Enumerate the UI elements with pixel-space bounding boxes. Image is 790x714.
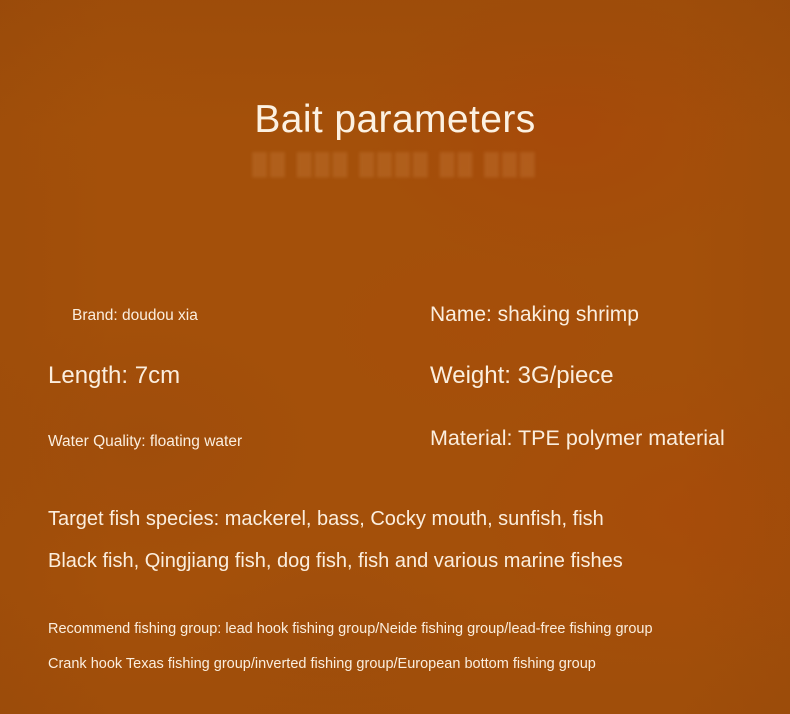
- title-ghost-text: ██ ███ ████ ██ ███: [0, 152, 790, 178]
- species-line: Target fish species: mackerel, bass, Coc…: [48, 498, 768, 540]
- recommend-line: Crank hook Texas fishing group/inverted …: [48, 647, 778, 682]
- parameter-row-brand-name: Brand: doudou xia Name: shaking shrimp: [0, 296, 790, 360]
- recommend-line: Recommend fishing group: lead hook fishi…: [48, 612, 778, 647]
- param-brand: Brand: doudou xia: [72, 306, 198, 326]
- recommended-rig-block: Recommend fishing group: lead hook fishi…: [48, 612, 778, 682]
- species-line: Black fish, Qingjiang fish, dog fish, fi…: [48, 540, 768, 582]
- bait-parameters-poster: Bait parameters ██ ███ ████ ██ ███ Brand…: [0, 0, 790, 714]
- param-weight: Weight: 3G/piece: [430, 360, 614, 391]
- param-length: Length: 7cm: [48, 360, 180, 391]
- parameter-row-water-material: Water Quality: floating water Material: …: [0, 424, 790, 488]
- param-material: Material: TPE polymer material: [430, 424, 725, 452]
- param-water-quality: Water Quality: floating water: [48, 432, 242, 452]
- parameter-grid: Brand: doudou xia Name: shaking shrimp L…: [0, 296, 790, 488]
- parameter-row-length-weight: Length: 7cm Weight: 3G/piece: [0, 360, 790, 424]
- target-species-block: Target fish species: mackerel, bass, Coc…: [48, 498, 768, 582]
- title-block: Bait parameters ██ ███ ████ ██ ███: [0, 96, 790, 178]
- page-title: Bait parameters: [0, 96, 790, 144]
- param-name: Name: shaking shrimp: [430, 301, 639, 328]
- poster-content: Bait parameters ██ ███ ████ ██ ███ Brand…: [0, 0, 790, 714]
